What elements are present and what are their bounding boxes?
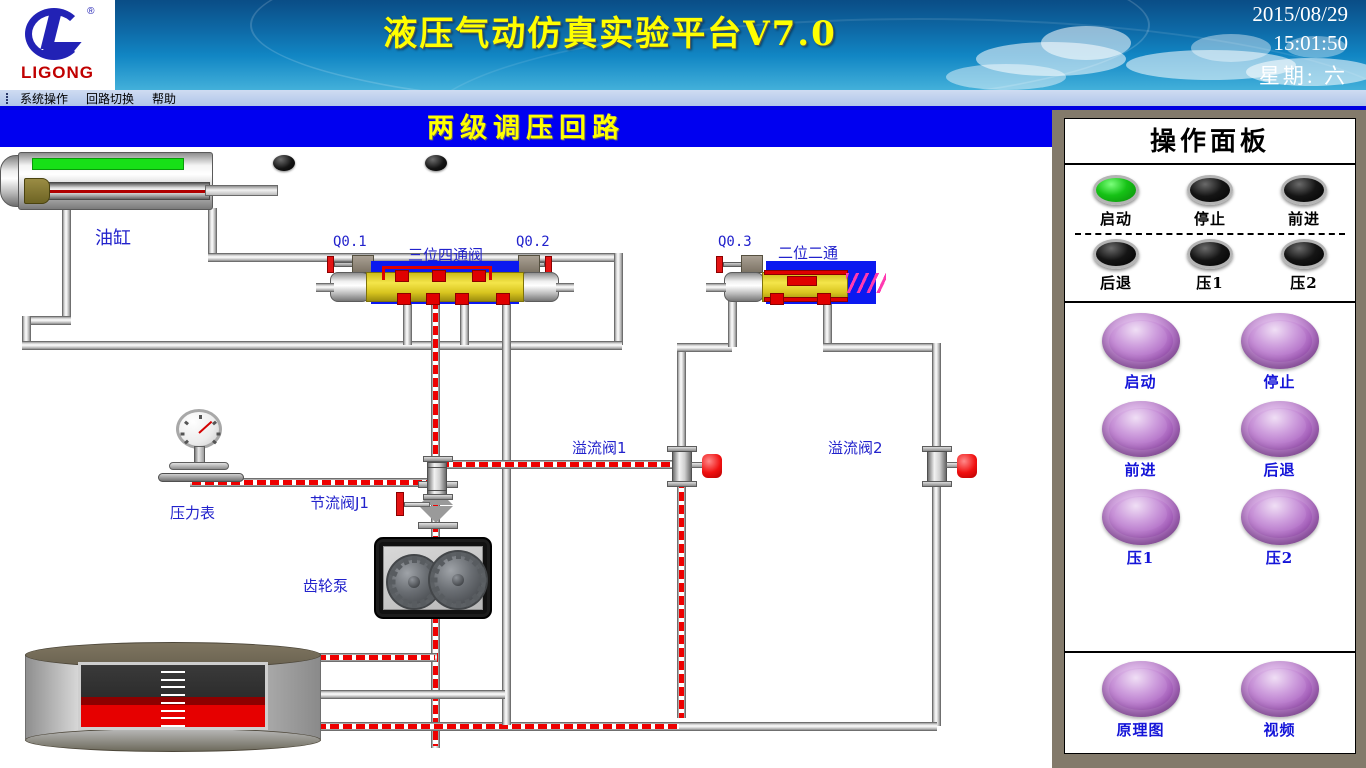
button-cell-pressure-2: 压2 [1210, 489, 1349, 568]
pressure-gauge-face [176, 409, 222, 449]
pressure-gauge-flange [169, 462, 229, 470]
control-button-section: 启动 停止 前进 后退 [1065, 303, 1355, 649]
dir-valve-spool-land-3 [472, 270, 486, 282]
video-button-label: 视频 [1210, 719, 1349, 740]
circuit-diagram-canvas: 两级调压回路 [0, 110, 1052, 768]
relief-valve-1-label: 溢流阀1 [572, 437, 627, 458]
dir-valve-solenoid-right-label: Q0.2 [516, 234, 550, 250]
circuit-title: 两级调压回路 [0, 110, 1052, 147]
logo-wordmark: LIGONG [21, 63, 94, 83]
company-logo: ® LIGONG [0, 0, 115, 90]
forward-button-label: 前进 [1071, 459, 1210, 480]
oil-tank-sight-glass [78, 662, 268, 730]
gear-icon-left [392, 560, 436, 604]
cylinder-rod-centerline [40, 190, 220, 193]
button-cell-forward: 前进 [1071, 401, 1210, 480]
two-way-solenoid-body[interactable] [741, 255, 763, 273]
pipe-lower-loop-left [22, 341, 432, 350]
oil-level-graduations [161, 671, 185, 727]
two-way-solenoid-pad[interactable] [716, 256, 723, 273]
dir-valve-right-end-cap [519, 272, 559, 302]
control-button-row-3: 压1 压2 [1071, 489, 1349, 568]
video-button[interactable] [1241, 661, 1319, 717]
app-header: ® LIGONG 液压气动仿真实验平台V7.0 2015/08/29 15:01… [0, 0, 1366, 90]
two-way-left-stub [706, 283, 726, 292]
panel-dashed-divider [1075, 233, 1345, 235]
operation-panel-frame: 操作面板 启动 停止 前进 [1052, 110, 1366, 768]
gear-icon-right [434, 556, 482, 604]
dir-valve-solenoid-left-label: Q0.1 [333, 234, 367, 250]
position-sensor-icon-left[interactable] [273, 155, 295, 171]
two-way-port-a-tap [770, 293, 784, 305]
pipe-cyl-left-down [62, 208, 71, 320]
dir-valve-port-p-tap [426, 293, 440, 305]
relief2-flange-bottom [922, 481, 952, 487]
backward-button-label: 后退 [1210, 459, 1349, 480]
dir-valve-right-stub [556, 283, 574, 292]
cylinder-label: 油缸 [95, 224, 131, 250]
throttle-lower-cone [419, 506, 453, 523]
pipe-valve-port-t [502, 297, 511, 727]
two-way-land-top [764, 270, 848, 275]
dir-valve-port-t-tap [496, 293, 510, 305]
start-button-label: 启动 [1071, 371, 1210, 392]
indicator-pressure-1[interactable]: 压1 [1163, 239, 1256, 293]
pressure-2-button-label: 压2 [1210, 547, 1349, 568]
two-way-spool-center [787, 276, 817, 286]
throttle-junction-flange-bottom [423, 494, 453, 500]
cylinder-stroke-indicator [32, 158, 184, 170]
relief-valve-2-label: 溢流阀2 [828, 437, 883, 458]
schematic-button-label: 原理图 [1071, 719, 1210, 740]
schematic-button[interactable] [1102, 661, 1180, 717]
pipe-upper-loop-right-down [614, 253, 623, 345]
pipe-t-port-bottom [502, 675, 511, 725]
throttle-bottom-cap [418, 522, 458, 529]
backward-button[interactable] [1241, 401, 1319, 457]
start-button[interactable] [1102, 313, 1180, 369]
menu-item-help[interactable]: 帮助 [143, 90, 185, 107]
two-way-end-cap [724, 272, 764, 302]
menu-grip-icon [2, 92, 11, 106]
button-cell-pressure-1: 压1 [1071, 489, 1210, 568]
dir-valve-spool-land-2 [432, 270, 446, 282]
dir-valve-left-end-cap [330, 272, 370, 302]
ligong-logo-icon: ® [21, 8, 95, 63]
operation-panel: 操作面板 启动 停止 前进 [1064, 118, 1356, 754]
pressure-2-button[interactable] [1241, 489, 1319, 545]
button-cell-schematic: 原理图 [1071, 661, 1210, 740]
flow-relief1-branch [440, 462, 679, 467]
cylinder-piston-rod [205, 185, 278, 196]
throttle-valve-label: 节流阀J1 [310, 492, 369, 513]
indicator-lamp-forward-icon [1281, 175, 1327, 205]
pipe-cyl-left-drop [22, 316, 31, 344]
stop-button-label: 停止 [1210, 371, 1349, 392]
button-cell-stop: 停止 [1210, 313, 1349, 392]
app-window: ® LIGONG 液压气动仿真实验平台V7.0 2015/08/29 15:01… [0, 0, 1366, 768]
flow-relief1-down [679, 466, 684, 718]
indicator-label-start: 启动 [1069, 208, 1162, 229]
oil-tank-bottom [25, 728, 321, 752]
dir-valve-port-b-tap [455, 293, 469, 305]
relief2-body[interactable] [927, 451, 947, 485]
pipe-relief2-top-elbow [823, 343, 941, 352]
indicator-label-pressure2: 压2 [1257, 272, 1350, 293]
indicator-lamp-pressure1-icon [1187, 239, 1233, 269]
indicator-forward[interactable]: 前进 [1257, 175, 1350, 229]
indicator-label-backward: 后退 [1069, 272, 1162, 293]
two-way-valve-solenoid-label: Q0.3 [718, 234, 752, 250]
indicator-start[interactable]: 启动 [1069, 175, 1162, 229]
indicator-lamp-stop-icon [1187, 175, 1233, 205]
indicator-lamp-row-1: 启动 停止 前进 [1069, 175, 1351, 229]
stop-button[interactable] [1241, 313, 1319, 369]
gear-pump-window [383, 546, 483, 610]
pipe-relief2-down [932, 466, 941, 726]
media-button-section: 原理图 视频 [1065, 653, 1355, 753]
throttle-adjust-stem[interactable] [404, 502, 430, 507]
flow-pump-suction [317, 655, 435, 660]
control-button-row-1: 启动 停止 [1071, 313, 1349, 392]
dir-valve-left-solenoid-pad[interactable] [327, 256, 334, 273]
menu-item-circuit-switch[interactable]: 回路切换 [77, 90, 143, 107]
indicator-stop[interactable]: 停止 [1163, 175, 1256, 229]
button-cell-video: 视频 [1210, 661, 1349, 740]
header-date: 2015/08/29 [1252, 2, 1348, 27]
indicator-label-pressure1: 压1 [1163, 272, 1256, 293]
header-weekday: 星期: 六 [1259, 60, 1348, 90]
gear-pump-label: 齿轮泵 [303, 575, 348, 596]
two-way-return-spring [846, 273, 886, 293]
dir-valve-right-solenoid-pad[interactable] [545, 256, 552, 273]
media-button-row: 原理图 视频 [1071, 661, 1349, 740]
throttle-junction-body-2 [427, 467, 447, 491]
indicator-backward[interactable]: 后退 [1069, 239, 1162, 293]
pressure-gauge-label: 压力表 [170, 502, 215, 523]
position-sensor-icon-right[interactable] [425, 155, 447, 171]
two-way-valve-label: 二位二通 [778, 242, 838, 263]
dir-valve-spool-land-1 [395, 270, 409, 282]
relief2-adjust-knob[interactable] [957, 454, 977, 478]
dir-valve-port-a-tap [397, 293, 411, 305]
menu-item-system-operation[interactable]: 系统操作 [11, 90, 77, 107]
indicator-lamp-start-icon [1093, 175, 1139, 205]
indicator-label-forward: 前进 [1257, 208, 1350, 229]
operation-panel-title: 操作面板 [1065, 119, 1355, 165]
forward-button[interactable] [1102, 401, 1180, 457]
pipe-tank-upper-return [315, 690, 505, 699]
throttle-adjust-handle[interactable] [396, 492, 404, 516]
two-way-port-b-tap [817, 293, 831, 305]
registered-trademark-icon: ® [87, 6, 94, 17]
control-button-row-2: 前进 后退 [1071, 401, 1349, 480]
button-cell-backward: 后退 [1210, 401, 1349, 480]
pressure-gauge-needle [198, 421, 212, 434]
indicator-lamp-pressure2-icon [1281, 239, 1327, 269]
relief1-adjust-knob[interactable] [702, 454, 722, 478]
pressure-gauge-base [158, 473, 244, 482]
indicator-lamp-section: 启动 停止 前进 后退 [1065, 165, 1355, 299]
indicator-lamp-row-2: 后退 压1 压2 [1069, 239, 1351, 293]
indicator-lamp-backward-icon [1093, 239, 1139, 269]
header-time: 15:01:50 [1273, 31, 1348, 56]
relief1-body[interactable] [672, 451, 692, 485]
pressure-1-button[interactable] [1102, 489, 1180, 545]
button-cell-start: 启动 [1071, 313, 1210, 392]
dir-valve-right-solenoid-body[interactable] [518, 255, 540, 273]
pipe-relief1-top-elbow [677, 343, 732, 352]
app-title: 液压气动仿真实验平台V7.0 [300, 6, 920, 55]
cylinder-piston [24, 178, 50, 204]
gear-pump[interactable] [374, 537, 492, 619]
dir-valve-left-stub [316, 283, 334, 292]
flow-tank-return [317, 724, 679, 729]
relief1-flange-bottom [667, 481, 697, 487]
pressure-1-button-label: 压1 [1071, 547, 1210, 568]
indicator-label-stop: 停止 [1163, 208, 1256, 229]
indicator-pressure-2[interactable]: 压2 [1257, 239, 1350, 293]
